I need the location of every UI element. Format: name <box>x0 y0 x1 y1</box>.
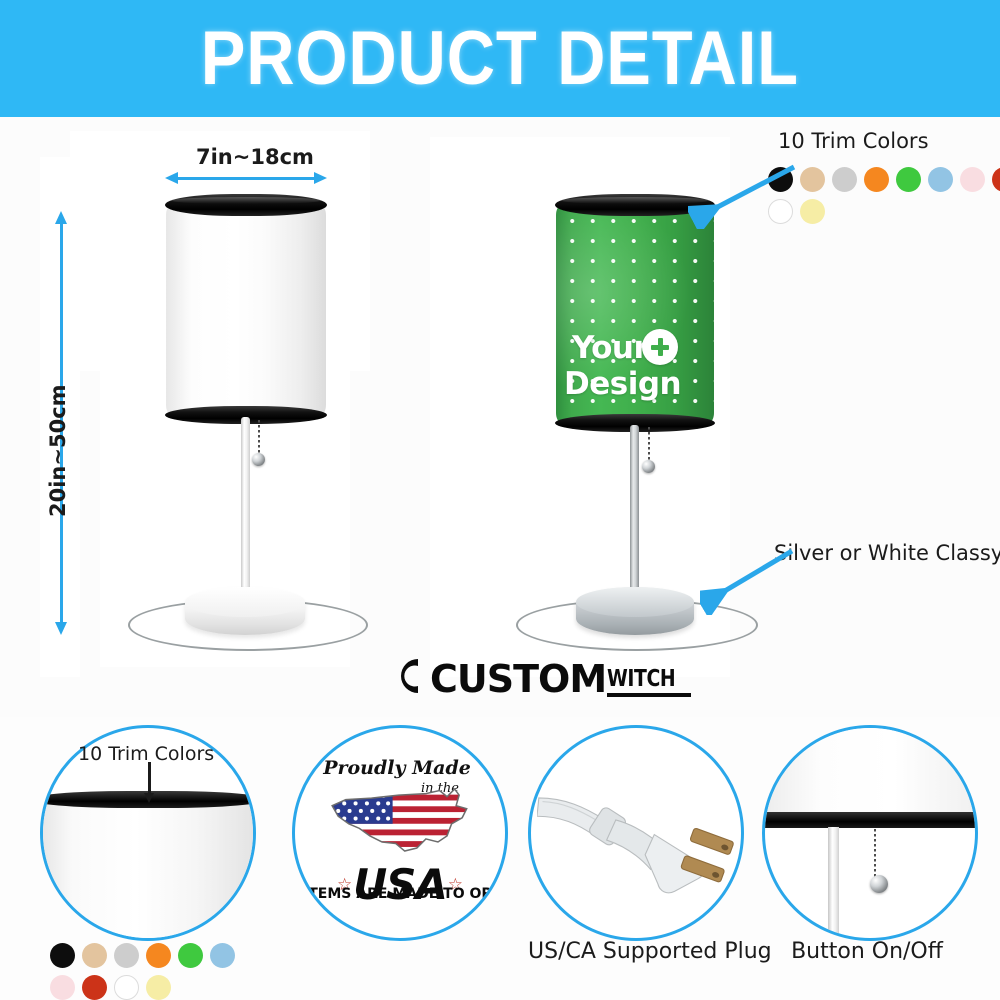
base-top <box>576 587 694 617</box>
pull-chain-closeup <box>874 829 876 881</box>
lamp-white-pole <box>241 417 250 615</box>
feature-panels: 10 Trim Colors Proudly Made in the <box>0 717 1000 1000</box>
shade-closeup <box>762 725 978 816</box>
width-dimension-label: 7in~18cm <box>196 145 314 169</box>
made-to-order-text: ALL ITEMS ARE MADE TO ORDER! <box>292 886 508 902</box>
panel-button-on-off <box>762 725 978 941</box>
pull-chain <box>258 420 260 456</box>
usa-map-flag-icon <box>324 783 479 859</box>
trim-callout-arrow <box>688 159 808 229</box>
panel-plug <box>528 725 744 941</box>
color-swatch-2[interactable] <box>832 167 857 192</box>
proudly-made-text: Proudly Made <box>323 757 471 779</box>
color-swatch-9[interactable] <box>146 975 171 1000</box>
pull-chain-ball[interactable] <box>642 460 655 473</box>
base-top <box>185 587 305 617</box>
color-swatch-5[interactable] <box>210 943 235 968</box>
trim-band-closeup <box>762 812 978 828</box>
logo-secondary-text: WITCH <box>607 668 676 691</box>
trim-top <box>165 194 327 216</box>
color-swatch-7[interactable] <box>992 167 1000 192</box>
pull-chain <box>648 427 650 463</box>
lamp-green-shade: Your Design <box>556 205 714 423</box>
panel-made-in-usa: Proudly Made in the <box>292 725 508 941</box>
power-plug-icon <box>537 762 739 909</box>
color-swatch-8[interactable] <box>114 975 139 1000</box>
panel-button-label: Button On/Off <box>762 939 972 964</box>
pull-chain-ball[interactable] <box>252 453 265 466</box>
panel-trim-colors-swatches[interactable] <box>50 943 260 1000</box>
product-detail-infographic: PRODUCT DETAIL 7in~18cm <box>0 0 1000 1000</box>
color-swatch-5[interactable] <box>928 167 953 192</box>
color-swatch-6[interactable] <box>960 167 985 192</box>
base-finish-arrow <box>700 545 810 615</box>
color-swatch-4[interactable] <box>178 943 203 968</box>
color-swatch-7[interactable] <box>82 975 107 1000</box>
height-dimension-label: 20in~50cm <box>46 384 70 517</box>
color-swatch-1[interactable] <box>82 943 107 968</box>
plus-icon[interactable] <box>642 329 678 365</box>
top-trim-colors-title: 10 Trim Colors <box>778 129 929 153</box>
logo-underline <box>607 693 691 697</box>
color-swatch-3[interactable] <box>864 167 889 192</box>
color-swatch-4[interactable] <box>896 167 921 192</box>
lamp-green-base <box>576 587 694 635</box>
panel-trim-colors-inner-label: 10 Trim Colors <box>78 743 214 765</box>
logo-c-icon <box>392 655 432 697</box>
pole-closeup <box>828 827 839 938</box>
color-swatch-2[interactable] <box>114 943 139 968</box>
lamp-white-base <box>185 587 305 635</box>
your-design-line1: Your <box>572 333 648 364</box>
panel-plug-label: US/CA Supported Plug <box>528 939 738 964</box>
your-design-line2: Design <box>564 369 681 400</box>
color-swatch-0[interactable] <box>50 943 75 968</box>
pull-chain-ball-closeup[interactable] <box>870 875 888 893</box>
shade-closeup <box>40 799 256 941</box>
header-banner: PRODUCT DETAIL <box>0 0 1000 117</box>
main-stage: 7in~18cm 20in~50cm Your Design <box>0 117 1000 717</box>
brand-logo: CUSTOM WITCH <box>392 655 691 697</box>
page-title: PRODUCT DETAIL <box>201 15 799 102</box>
lamp-white-shade <box>166 205 326 415</box>
shade-surface <box>166 205 326 415</box>
width-dimension-arrow <box>165 175 327 182</box>
color-swatch-3[interactable] <box>146 943 171 968</box>
trim-pointer-arrow <box>148 762 151 794</box>
logo-primary-text: CUSTOM <box>430 661 606 697</box>
color-swatch-6[interactable] <box>50 975 75 1000</box>
